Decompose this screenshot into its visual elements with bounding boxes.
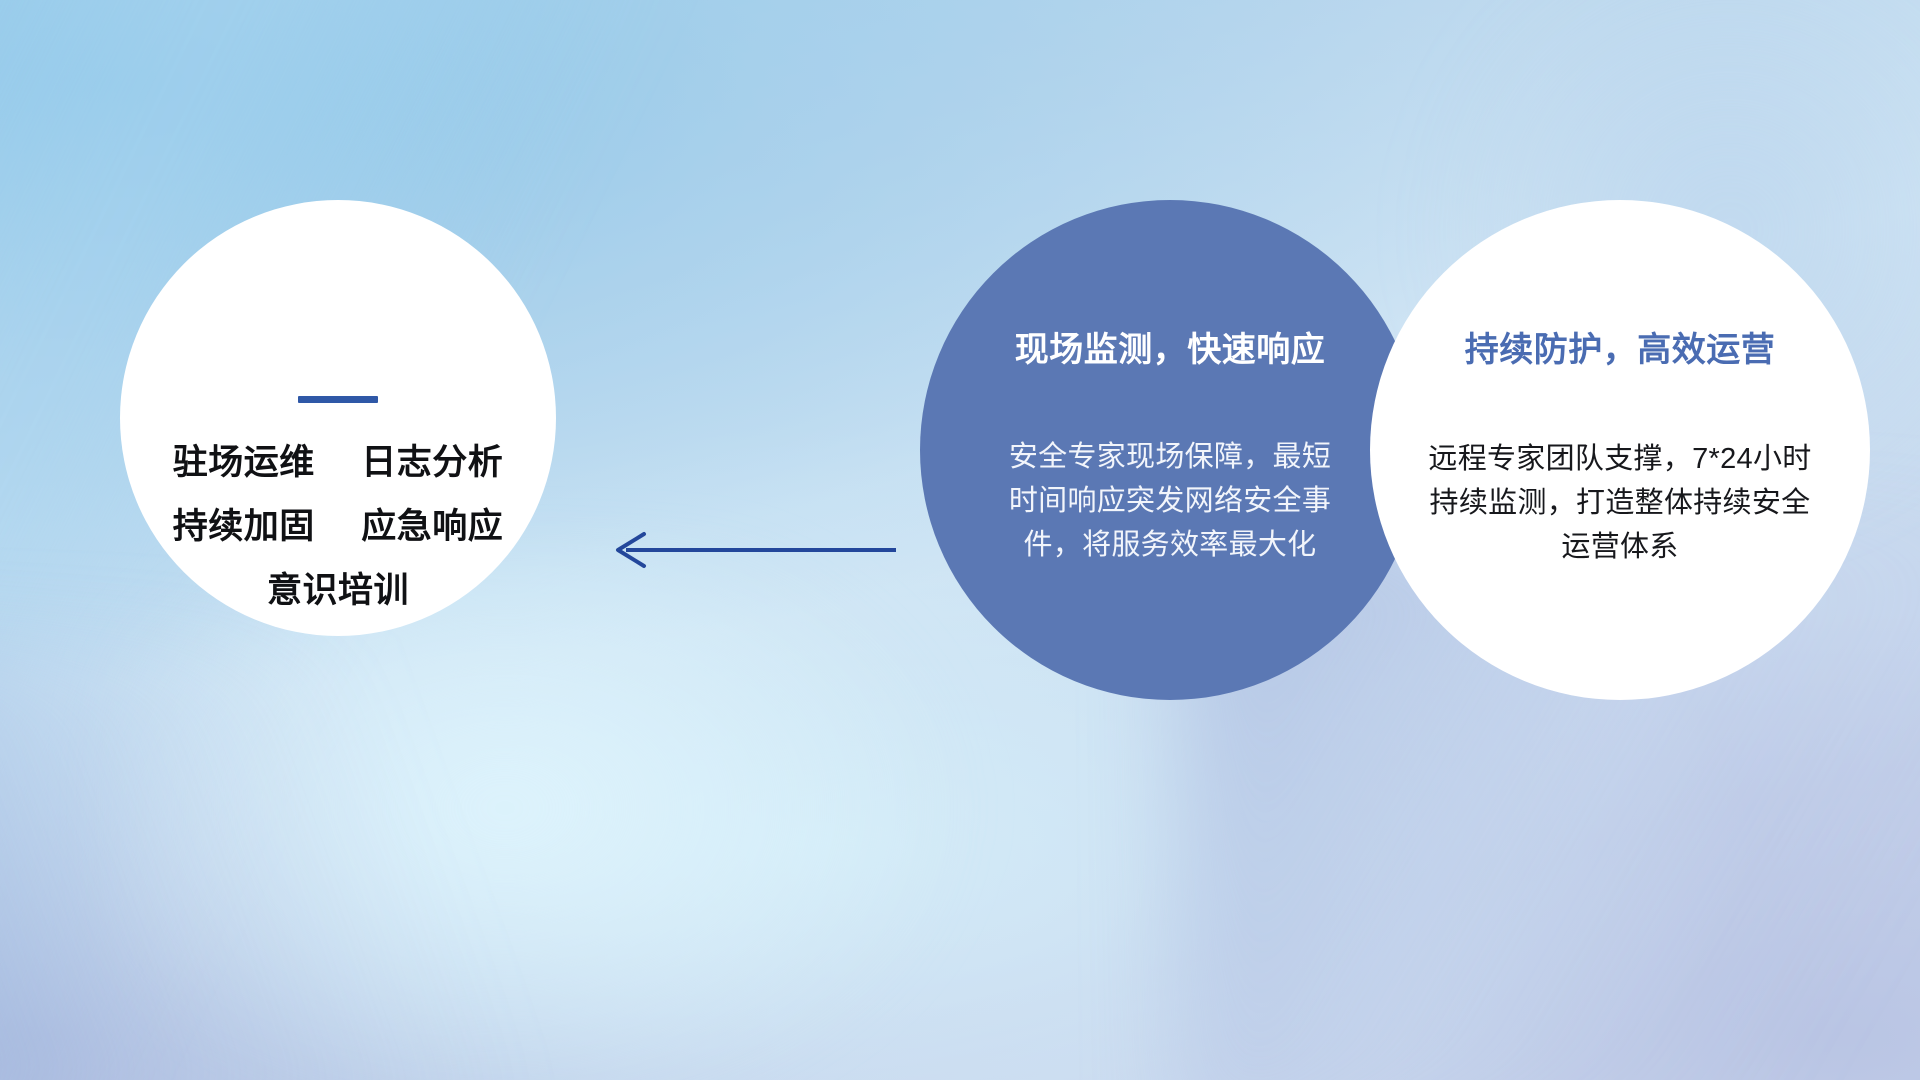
continuous-protection-body: 远程专家团队支撑，7*24小时持续监测，打造整体持续安全运营体系 [1420, 437, 1820, 569]
capability-label: 日志分析 [361, 443, 503, 482]
onsite-monitoring-body: 安全专家现场保障，最短时间响应突发网络安全事件，将服务效率最大化 [1005, 435, 1335, 567]
divider-dash [298, 396, 378, 403]
onsite-monitoring-title: 现场监测，快速响应 [1015, 322, 1326, 371]
slide-canvas: 驻场运维 日志分析 持续加固 应急响应 意识培训 现场监测，快速响应 安全专家现… [0, 0, 1920, 1080]
capability-label: 持续加固 [173, 507, 315, 546]
list-item: 持续加固 应急响应 [173, 509, 504, 546]
continuous-protection-circle[interactable]: 持续防护，高效运营 远程专家团队支撑，7*24小时持续监测，打造整体持续安全运营… [1370, 200, 1870, 700]
capabilities-list: 驻场运维 日志分析 持续加固 应急响应 意识培训 [120, 445, 556, 609]
capabilities-circle[interactable]: 驻场运维 日志分析 持续加固 应急响应 意识培训 [120, 200, 556, 636]
capability-label: 驻场运维 [173, 443, 315, 482]
flow-arrow [600, 520, 900, 580]
capability-label: 应急响应 [361, 507, 503, 546]
capability-label: 意识培训 [267, 571, 409, 610]
list-item: 意识培训 [267, 573, 409, 610]
onsite-monitoring-circle[interactable]: 现场监测，快速响应 安全专家现场保障，最短时间响应突发网络安全事件，将服务效率最… [920, 200, 1420, 700]
continuous-protection-title: 持续防护，高效运营 [1465, 322, 1776, 371]
list-item: 驻场运维 日志分析 [173, 445, 504, 482]
background-sweep-lower-left [0, 640, 500, 1080]
